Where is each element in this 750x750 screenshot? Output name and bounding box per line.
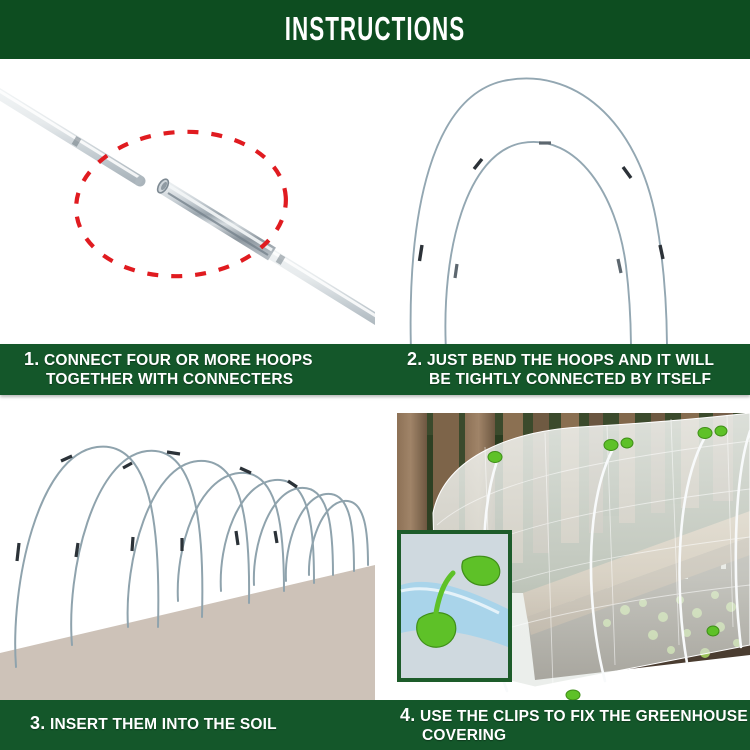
- rod-segment-upper: [0, 84, 145, 187]
- caption-bar-top: 1. CONNECT FOUR OR MORE HOOPS TOGETHER W…: [0, 344, 750, 395]
- caption-bar-bottom: 3. INSERT THEM INTO THE SOIL 4. USE THE …: [0, 700, 750, 750]
- caption-step-1: 1. CONNECT FOUR OR MORE HOOPS TOGETHER W…: [24, 344, 374, 395]
- page-title: INSTRUCTIONS: [120, 9, 630, 49]
- step-4-illustration: [375, 395, 750, 700]
- step-3-line-1: INSERT THEM INTO THE SOIL: [50, 716, 277, 733]
- instruction-sheet: INSTRUCTIONS: [0, 0, 750, 750]
- step-1-number: 1.: [24, 349, 39, 369]
- step-2-line-2: BE TIGHTLY CONNECTED BY ITSELF: [407, 370, 747, 389]
- rod-segment-lower: [258, 243, 375, 329]
- caption-step-3: 3. INSERT THEM INTO THE SOIL: [30, 700, 370, 750]
- hoop-outer: [411, 78, 667, 344]
- caption-step-2: 2. JUST BEND THE HOOPS AND IT WILL BE TI…: [407, 344, 747, 395]
- step-3-number: 3.: [30, 713, 45, 733]
- step-2-illustration: [375, 59, 750, 344]
- soil-bed: [0, 565, 375, 700]
- step-4-number: 4.: [400, 705, 415, 725]
- step-4-line-1: USE THE CLIPS TO FIX THE GREENHOUSE: [420, 708, 748, 725]
- rod-connector-drawing: [0, 59, 375, 344]
- greenhouse-photo: [375, 395, 750, 700]
- metal-connector: [155, 177, 272, 255]
- header-bar: INSTRUCTIONS: [0, 0, 750, 59]
- clip-closeup-inset: [397, 530, 512, 682]
- step-2-number: 2.: [407, 349, 422, 369]
- step-1-illustration: [0, 59, 375, 344]
- caption-step-4: 4. USE THE CLIPS TO FIX THE GREENHOUSE C…: [400, 700, 748, 750]
- hoop-connector-marks: [420, 159, 664, 261]
- bent-hoops-drawing: [375, 59, 750, 344]
- step-2-line-1: JUST BEND THE HOOPS AND IT WILL: [427, 352, 714, 369]
- step-4-line-2: COVERING: [400, 726, 748, 745]
- hoop-inner: [445, 142, 631, 344]
- step-1-line-1: CONNECT FOUR OR MORE HOOPS: [44, 352, 313, 369]
- step-1-line-2: TOGETHER WITH CONNECTERS: [24, 370, 374, 389]
- step-3-illustration: [0, 395, 375, 700]
- hoops-in-soil-drawing: [0, 395, 375, 700]
